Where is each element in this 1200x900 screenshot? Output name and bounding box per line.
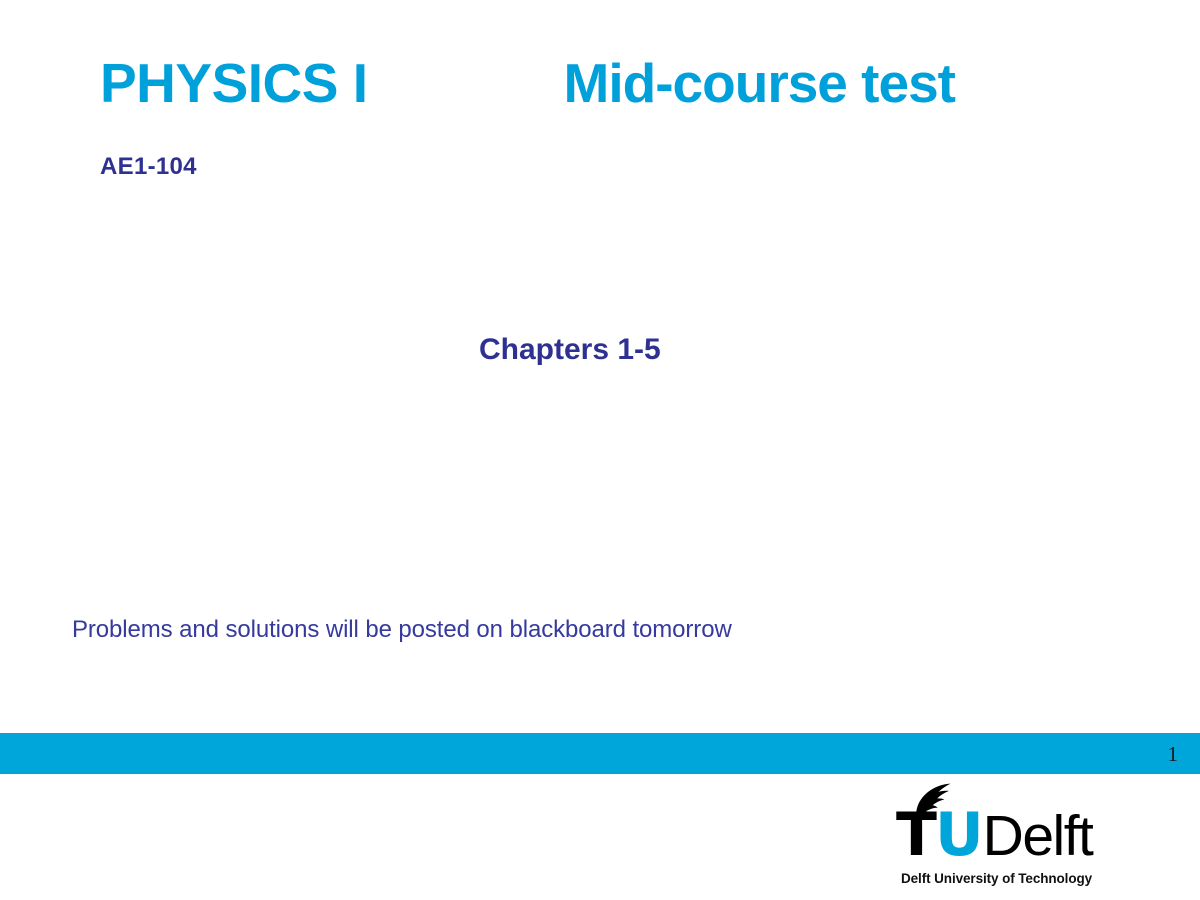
slide-title-main: PHYSICS I	[100, 56, 368, 111]
wordmark-delft: Delft	[983, 804, 1093, 868]
tu-delft-tagline: Delft University of Technology	[901, 871, 1106, 886]
tu-delft-wordmark: TUDelft	[896, 807, 1106, 863]
page-number: 1	[1168, 744, 1179, 765]
chapters-heading: Chapters 1-5	[479, 332, 661, 368]
slide-note-text: Problems and solutions will be posted on…	[72, 616, 732, 645]
wordmark-letter-t: T	[896, 800, 935, 870]
wordmark-letter-u: U	[935, 800, 983, 870]
tu-delft-logo: TUDelft Delft University of Technology	[896, 783, 1106, 895]
slide-title-secondary: Mid-course test	[564, 56, 955, 111]
slide-title-row: PHYSICS I Mid-course test	[100, 52, 1120, 114]
footer-bar	[0, 733, 1200, 774]
slide-canvas: PHYSICS I Mid-course test AE1-104 Chapte…	[0, 0, 1200, 900]
course-code-label: AE1-104	[100, 153, 197, 182]
